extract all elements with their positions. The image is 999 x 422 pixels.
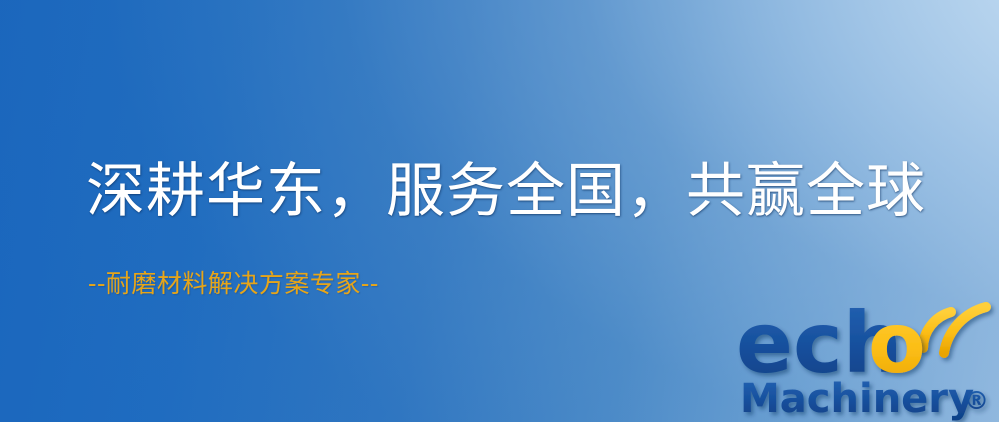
hero-banner: 深耕华东，服务全国，共赢全球 --耐磨材料解决方案专家-- [0,0,999,422]
banner-headline: 深耕华东，服务全国，共赢全球 [86,154,926,228]
logo-trademark-symbol: ® [964,386,989,415]
signal-waves-icon [923,307,986,353]
logo-machinery-text: Machinery [740,376,974,422]
echo-machinery-logo[interactable]: ech o Machinery ® [736,296,999,422]
banner-subtitle: --耐磨材料解决方案专家-- [88,268,379,300]
